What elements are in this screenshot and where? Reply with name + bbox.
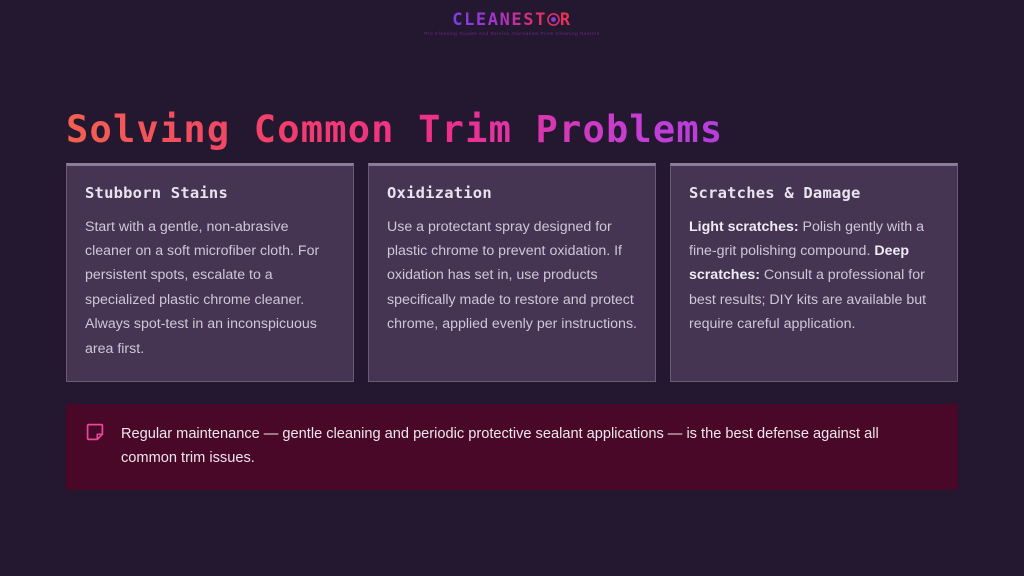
brand-wordmark-text: CLEANEST	[452, 10, 547, 30]
card-title: Oxidization	[387, 184, 637, 203]
cards-row: Stubborn Stains Start with a gentle, non…	[66, 163, 958, 382]
brand-wordmark: CLEANESTR	[452, 12, 572, 29]
card-body-text: Start with a gentle, non-abrasive cleane…	[85, 219, 319, 357]
card-oxidization: Oxidization Use a protectant spray desig…	[368, 163, 656, 382]
card-body: Light scratches: Polish gently with a fi…	[689, 215, 939, 337]
card-scratches-damage: Scratches & Damage Light scratches: Poli…	[670, 163, 958, 382]
card-title: Stubborn Stains	[85, 184, 335, 203]
brand-tagline: Pro Cleaning Guides And Service Journali…	[424, 32, 599, 37]
sticky-note-icon	[86, 423, 104, 441]
callout-banner: Regular maintenance — gentle cleaning an…	[66, 404, 958, 490]
card-body: Use a protectant spray designed for plas…	[387, 215, 637, 337]
callout-text: Regular maintenance — gentle cleaning an…	[121, 423, 911, 470]
page-title: Solving Common Trim Problems	[66, 108, 723, 152]
card-body: Start with a gentle, non-abrasive cleane…	[85, 215, 335, 362]
card-body-label-light: Light scratches:	[689, 219, 799, 235]
brand-wordmark-text-end: R	[560, 10, 572, 30]
card-body-text: Use a protectant spray designed for plas…	[387, 219, 637, 333]
brand-logo: CLEANESTR Pro Cleaning Guides And Servic…	[0, 12, 1024, 52]
card-stubborn-stains: Stubborn Stains Start with a gentle, non…	[66, 163, 354, 382]
circle-badge-icon	[547, 13, 560, 26]
card-title: Scratches & Damage	[689, 184, 939, 203]
